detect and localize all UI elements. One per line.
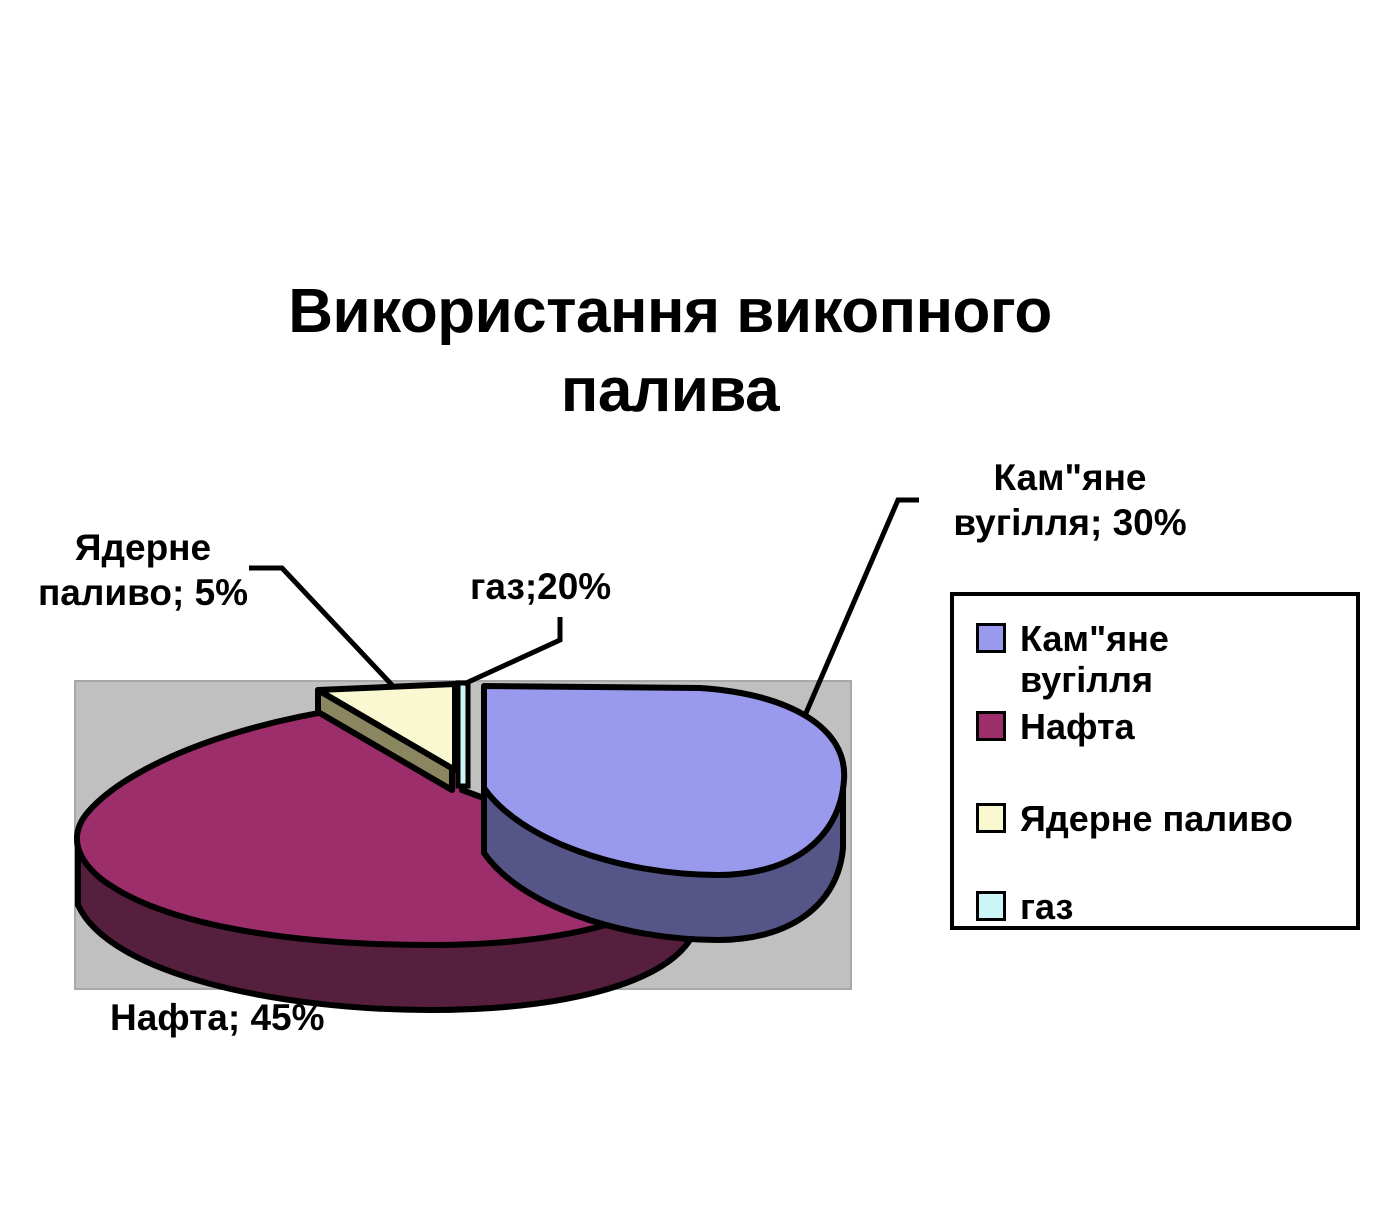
legend-label-gas: газ	[1020, 886, 1073, 927]
legend-item-oil[interactable]: Нафта	[976, 706, 1135, 747]
legend-item-nuclear[interactable]: Ядерне паливо	[976, 798, 1293, 839]
legend-swatch-coal-icon	[976, 623, 1006, 653]
leader-line-coal	[806, 500, 919, 713]
legend-swatch-gas-icon	[976, 891, 1006, 921]
legend-label-coal: Кам"яне вугілля	[1020, 618, 1169, 700]
data-label-nuclear: Ядерне паливо; 5%	[8, 525, 278, 615]
pie-chart-figure: Використання викопного палива Кам"яне ву…	[0, 0, 1384, 1212]
data-label-oil: Нафта; 45%	[110, 995, 430, 1040]
legend-label-nuclear: Ядерне паливо	[1020, 798, 1293, 839]
leader-line-gas	[464, 617, 560, 684]
data-label-coal: Кам"яне вугілля; 30%	[905, 455, 1235, 545]
legend-item-gas[interactable]: газ	[976, 886, 1073, 927]
legend-swatch-nuclear-icon	[976, 803, 1006, 833]
data-label-gas: газ;20%	[470, 564, 670, 609]
legend-label-oil: Нафта	[1020, 706, 1135, 747]
pie-slice-gas-top	[458, 683, 468, 786]
legend-item-coal[interactable]: Кам"яне вугілля	[976, 618, 1169, 700]
legend-swatch-oil-icon	[976, 711, 1006, 741]
chart-legend: Кам"яне вугілля Нафта Ядерне паливо газ	[950, 592, 1360, 930]
